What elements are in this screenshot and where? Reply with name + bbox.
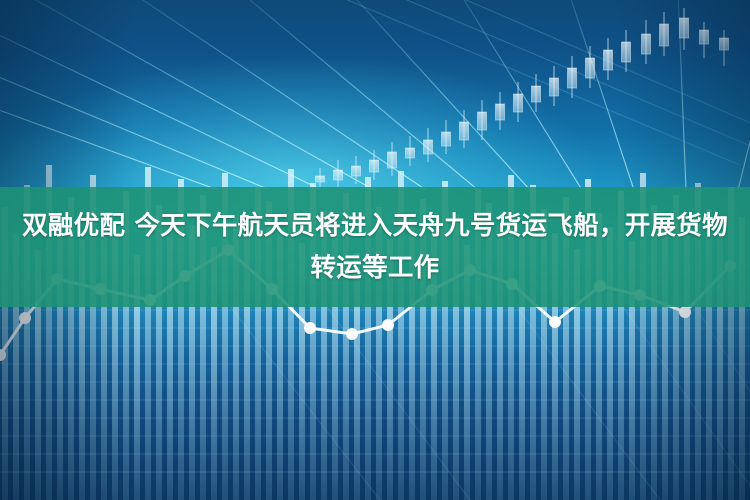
headline-line-2: 转运等工作 — [310, 247, 439, 289]
headline-line-1: 双融优配 今天下午航天员将进入天舟九号货运飞船，开展货物 — [22, 205, 728, 247]
page-title: 双融优配 今天下午航天员将进入天舟九号货运飞船，开展货物 转运等工作 — [0, 187, 750, 307]
stock-banner: 双融优配 今天下午航天员将进入天舟九号货运飞船，开展货物 转运等工作 — [0, 0, 750, 500]
